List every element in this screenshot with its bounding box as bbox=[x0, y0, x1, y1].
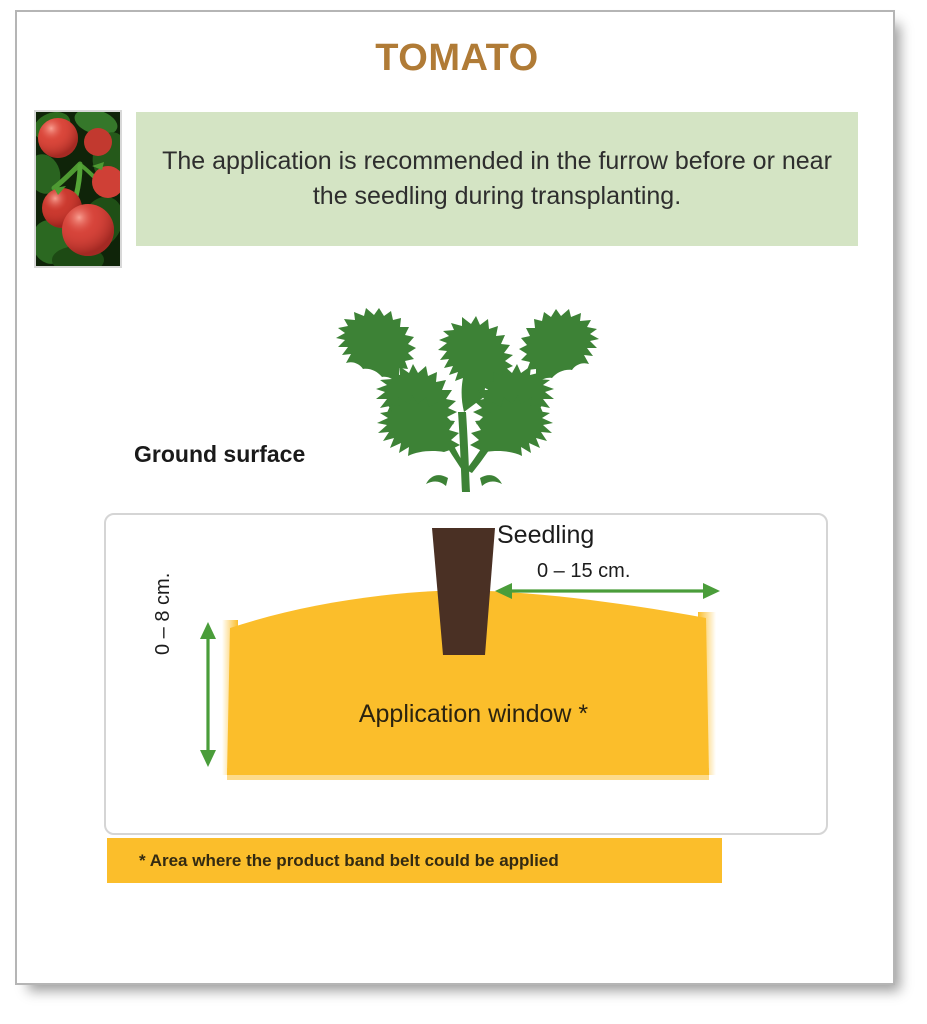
diagram-container bbox=[104, 513, 828, 835]
recommendation-text: The application is recommended in the fu… bbox=[136, 144, 858, 215]
vertical-dimension-label: 0 – 8 cm. bbox=[152, 573, 175, 655]
ground-surface-label: Ground surface bbox=[134, 441, 305, 468]
seedling-label: Seedling bbox=[497, 521, 594, 550]
application-window-label: Application window * bbox=[0, 700, 927, 729]
footnote-bar: * Area where the product band belt could… bbox=[107, 838, 722, 883]
footnote-text: * Area where the product band belt could… bbox=[107, 851, 559, 871]
recommendation-banner: The application is recommended in the fu… bbox=[136, 112, 858, 246]
horizontal-dimension-label: 0 – 15 cm. bbox=[537, 560, 630, 583]
tomato-photo-graphic bbox=[36, 112, 120, 266]
tomato-vine-photo bbox=[34, 110, 122, 268]
page-title: TOMATO bbox=[17, 37, 897, 80]
